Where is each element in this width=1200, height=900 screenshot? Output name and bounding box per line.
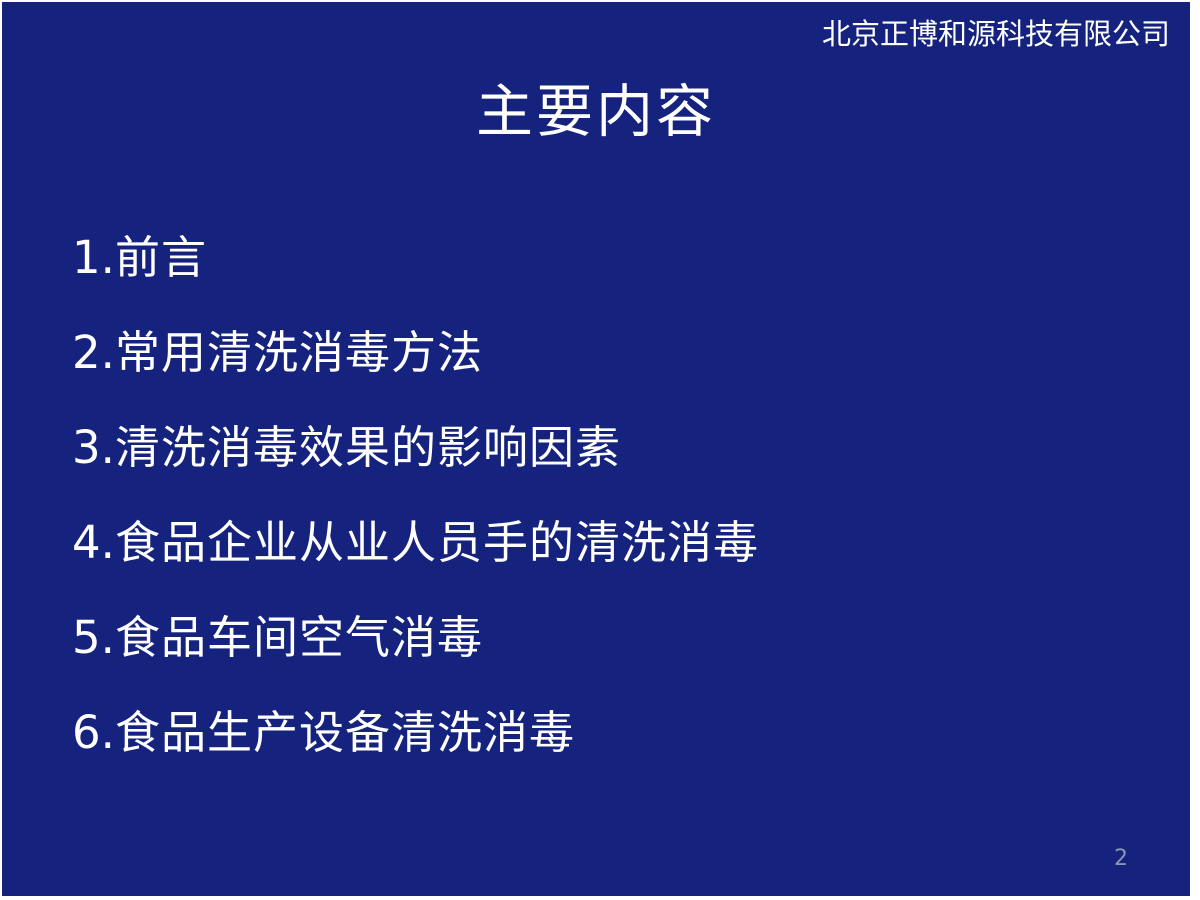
list-item: 3. 清洗消毒效果的影响因素: [72, 424, 1132, 519]
list-item-number: 5.: [72, 614, 115, 663]
list-item-label: 食品生产设备清洗消毒: [115, 709, 575, 758]
agenda-list: 1. 前言 2. 常用清洗消毒方法 3. 清洗消毒效果的影响因素 4. 食品企业…: [72, 234, 1132, 804]
list-item-label: 食品企业从业人员手的清洗消毒: [115, 519, 759, 568]
list-item: 2. 常用清洗消毒方法: [72, 329, 1132, 424]
list-item-number: 2.: [72, 329, 115, 378]
list-item: 4. 食品企业从业人员手的清洗消毒: [72, 519, 1132, 614]
list-item-label: 前言: [115, 234, 207, 283]
list-item-number: 4.: [72, 519, 115, 568]
slide-bottom-margin: [0, 896, 1200, 900]
list-item-number: 3.: [72, 424, 115, 473]
page-number: 2: [1114, 848, 1128, 870]
company-name-header: 北京正博和源科技有限公司: [822, 20, 1170, 49]
list-item: 5. 食品车间空气消毒: [72, 614, 1132, 709]
list-item-number: 1.: [72, 234, 115, 283]
page-title: 主要内容: [2, 80, 1190, 146]
list-item-number: 6.: [72, 709, 115, 758]
slide-right-margin: [1190, 0, 1200, 900]
list-item-label: 清洗消毒效果的影响因素: [115, 424, 621, 473]
list-item: 6. 食品生产设备清洗消毒: [72, 709, 1132, 804]
list-item: 1. 前言: [72, 234, 1132, 329]
list-item-label: 食品车间空气消毒: [115, 614, 483, 663]
list-item-label: 常用清洗消毒方法: [115, 329, 483, 378]
presentation-slide: 北京正博和源科技有限公司 主要内容 1. 前言 2. 常用清洗消毒方法 3. 清…: [2, 2, 1190, 896]
